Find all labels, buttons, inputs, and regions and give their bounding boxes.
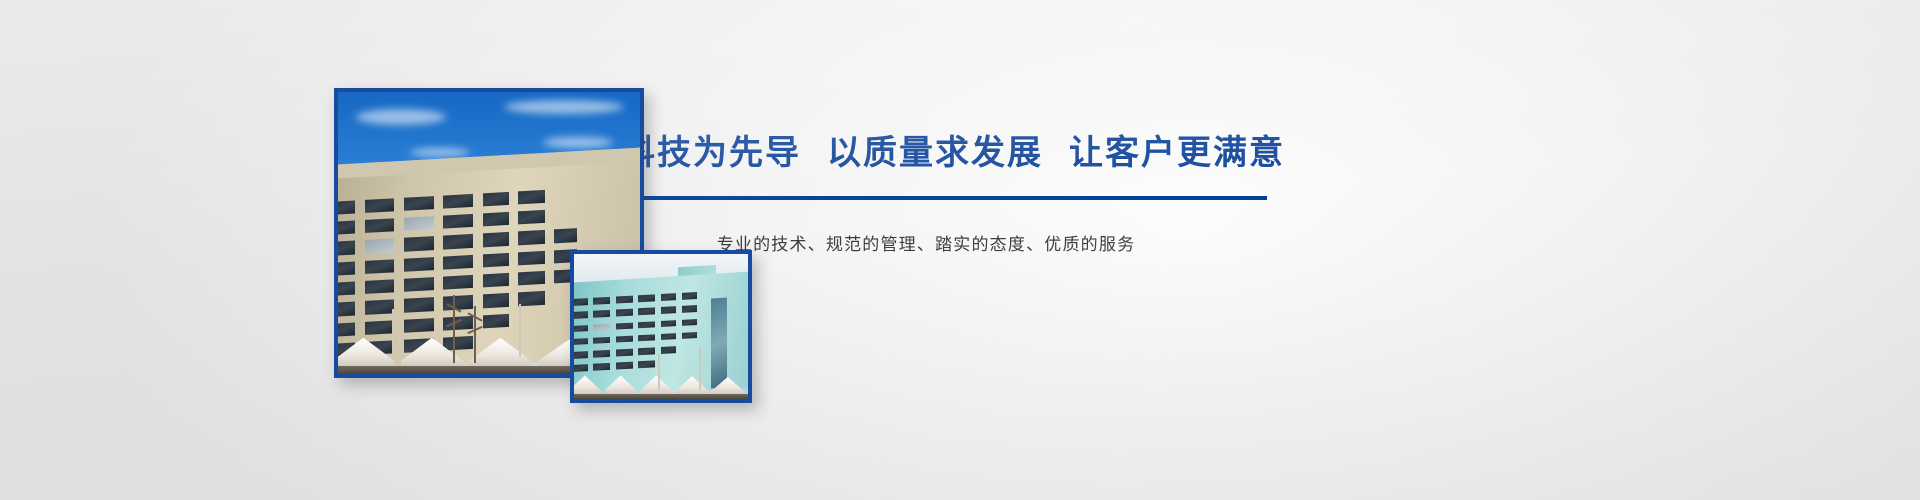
company-banner: 以科技为先导 以质量求发展 让客户更满意 专业的技术、规范的管理、踏实的态度、优… — [0, 0, 1920, 500]
headline-phrase-3: 让客户更满意 — [1069, 132, 1285, 175]
tree-icon — [453, 295, 455, 363]
tent-icon — [338, 338, 394, 368]
ground — [574, 394, 748, 399]
teal-building-scene — [574, 254, 748, 399]
photo-office-building-teal — [570, 250, 752, 403]
pole — [392, 309, 394, 357]
tent-icon — [712, 377, 744, 395]
pole — [699, 347, 701, 391]
tent-icon — [574, 375, 601, 394]
tent-icon — [640, 375, 672, 394]
headline-phrase-2: 以质量求发展 — [827, 132, 1043, 175]
headline: 以科技为先导 以质量求发展 让客户更满意 — [585, 132, 1285, 175]
pole — [519, 304, 521, 358]
horizontal-divider — [585, 196, 1267, 200]
tent-icon — [605, 375, 637, 394]
photo-collage — [0, 0, 820, 500]
pole — [658, 353, 660, 391]
tent-row — [574, 367, 748, 399]
banner-text-block: 以科技为先导 以质量求发展 让客户更满意 专业的技术、规范的管理、踏实的态度、优… — [585, 132, 1285, 255]
tent-icon — [676, 376, 708, 394]
cloud-icon — [356, 109, 446, 125]
tent-icon — [469, 338, 531, 368]
tree-icon — [474, 306, 476, 362]
